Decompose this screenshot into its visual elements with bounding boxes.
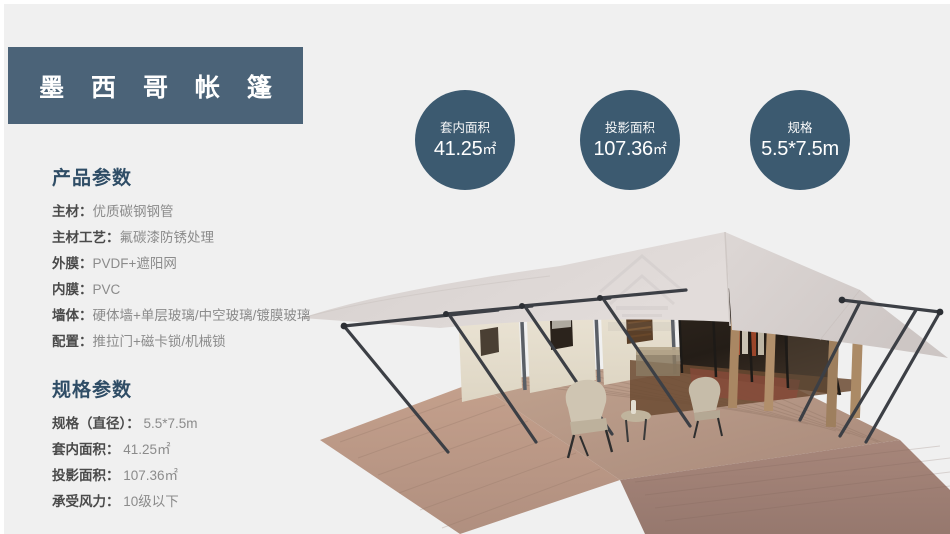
spec-row: 配置：推拉门+磁卡锁/机械锁 (52, 329, 372, 355)
spec-value: 硬体墙+单层玻璃/中空玻璃/镀膜玻璃 (93, 308, 311, 323)
badge-number: 41.25 (434, 138, 483, 160)
metric-badge-dimensions: 规格 5.5*7.5m (750, 90, 850, 190)
spec-row: 套内面积： 41.25㎡ (52, 437, 372, 463)
window-opening (480, 327, 499, 356)
badge-label: 投影面积 (605, 120, 655, 136)
spec-label: 承受风力： (52, 494, 120, 509)
badge-value: 41.25㎡ (434, 136, 496, 162)
spec-label: 内膜： (52, 282, 93, 297)
metric-badges: 套内面积 41.25㎡ 投影面积 107.36㎡ 规格 5.5*7.5m (0, 0, 950, 250)
section-specification-parameters: 规格参数 规格（直径）： 5.5*7.5m 套内面积： 41.25㎡ 投影面积：… (52, 375, 372, 515)
frame-edge-top (0, 0, 950, 4)
metric-badge-interior-area: 套内面积 41.25㎡ (415, 90, 515, 190)
spec-row: 内膜：PVC (52, 277, 372, 303)
badge-label: 规格 (787, 120, 812, 136)
spec-row: 外膜：PVDF+遮阳网 (52, 251, 372, 277)
spec-label: 套内面积： (52, 442, 120, 457)
spec-value: 推拉门+磁卡锁/机械锁 (93, 334, 226, 349)
spec-row: 墙体：硬体墙+单层玻璃/中空玻璃/镀膜玻璃 (52, 303, 372, 329)
metric-badge-projected-area: 投影面积 107.36㎡ (580, 90, 680, 190)
badge-value: 107.36㎡ (593, 136, 666, 162)
spec-label: 墙体： (52, 308, 93, 323)
badge-value: 5.5*7.5m (761, 136, 839, 162)
spec-row: 承受风力： 10级以下 (52, 489, 372, 515)
section-heading: 规格参数 (52, 375, 372, 402)
spec-row: 规格（直径）： 5.5*7.5m (52, 411, 372, 437)
badge-number: 107.36 (593, 138, 652, 160)
spec-row: 投影面积： 107.36㎡ (52, 463, 372, 489)
spec-value: 41.25㎡ (120, 442, 171, 457)
badge-unit: ㎡ (653, 141, 667, 157)
spec-value: PVC (93, 282, 121, 297)
section-divider-space (52, 355, 372, 375)
spec-value: 10级以下 (120, 494, 179, 509)
spec-value: 107.36㎡ (120, 468, 179, 483)
spec-label: 规格（直径）： (52, 416, 140, 431)
frame-edge-left (0, 0, 4, 534)
slide-canvas: 墨 西 哥 帐 篷 产品参数 主材：优质碳钢钢管 主材工艺：氟碳漆防锈处理 外膜… (0, 0, 950, 534)
table-bottle (631, 400, 636, 414)
spec-label: 外膜： (52, 256, 93, 271)
badge-unit: ㎡ (482, 141, 496, 157)
badge-label: 套内面积 (440, 120, 490, 136)
spec-label: 配置： (52, 334, 93, 349)
spec-value: PVDF+遮阳网 (93, 256, 177, 271)
spec-value: 5.5*7.5m (140, 416, 198, 431)
badge-number: 5.5*7.5m (761, 138, 839, 160)
spec-label: 投影面积： (52, 468, 120, 483)
